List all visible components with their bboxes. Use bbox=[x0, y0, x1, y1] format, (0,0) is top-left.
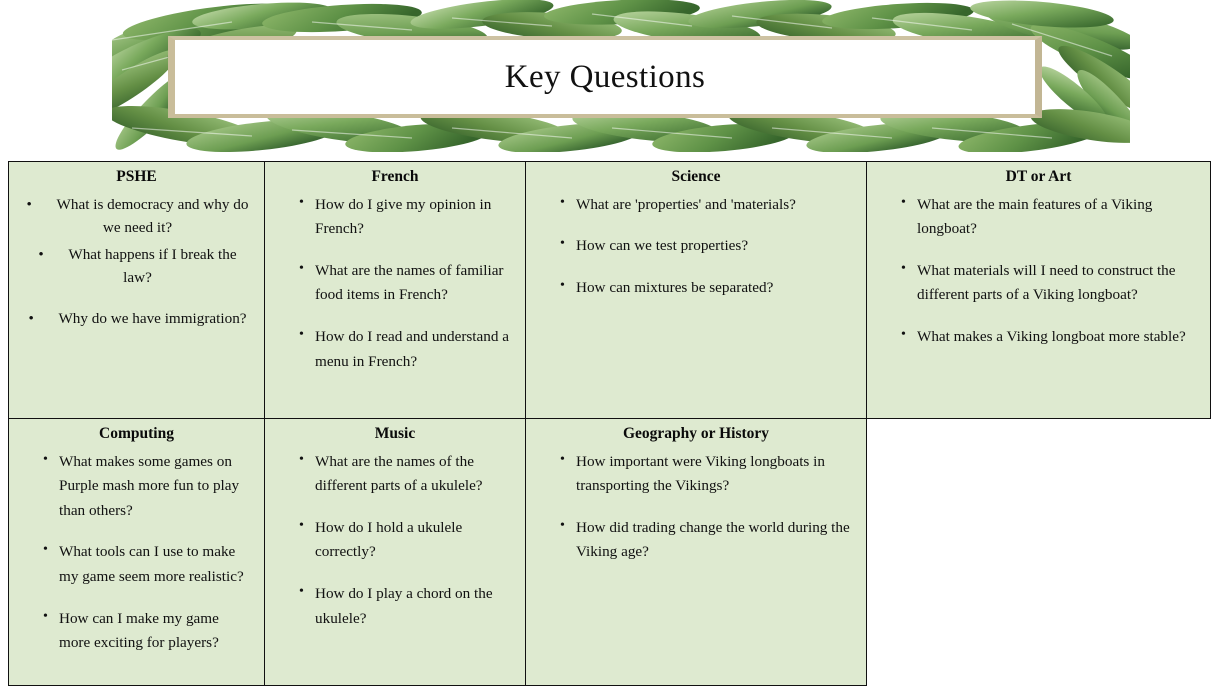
list-item: What are the names of familiar food item… bbox=[299, 259, 513, 308]
list-item: What are 'properties' and 'materials? bbox=[560, 193, 854, 218]
list-item: How important were Viking longboats in t… bbox=[560, 450, 854, 499]
question-text: How can we test properties? bbox=[576, 237, 748, 254]
question-text: What are 'properties' and 'materials? bbox=[576, 196, 796, 213]
question-text: How important were Viking longboats in t… bbox=[576, 453, 825, 495]
list-item: •Why do we have immigration? bbox=[23, 307, 252, 330]
subject-title-dt-or-art: DT or Art bbox=[875, 168, 1202, 187]
list-item: •What is democracy and why do we need it… bbox=[23, 193, 252, 239]
question-list-dt-or-art: What are the main features of a Viking l… bbox=[875, 193, 1202, 350]
question-text: How do I give my opinion in French? bbox=[315, 196, 491, 238]
question-text: What makes some games on Purple mash mor… bbox=[59, 453, 239, 519]
question-text: What materials will I need to construct … bbox=[917, 262, 1176, 304]
subject-title-music: Music bbox=[273, 425, 517, 444]
question-text: How do I play a chord on the ukulele? bbox=[315, 585, 493, 627]
question-list-science: What are 'properties' and 'materials? Ho… bbox=[534, 193, 858, 301]
question-text: Why do we have immigration? bbox=[58, 310, 246, 327]
question-list-pshe: •What is democracy and why do we need it… bbox=[17, 193, 256, 330]
list-item: What makes a Viking longboat more stable… bbox=[901, 325, 1198, 350]
table-row: Computing What makes some games on Purpl… bbox=[9, 419, 1211, 686]
subject-cell-science: Science What are 'properties' and 'mater… bbox=[526, 162, 867, 419]
page-title: Key Questions bbox=[505, 61, 705, 94]
subject-title-computing: Computing bbox=[17, 425, 256, 444]
list-item: How can I make my game more exciting for… bbox=[43, 607, 252, 656]
key-questions-table: PSHE •What is democracy and why do we ne… bbox=[8, 161, 1211, 686]
question-text: What makes a Viking longboat more stable… bbox=[917, 328, 1186, 345]
subject-cell-music: Music What are the names of the differen… bbox=[265, 419, 526, 686]
subject-title-geography-or-history: Geography or History bbox=[534, 425, 858, 444]
list-item: How do I give my opinion in French? bbox=[299, 193, 513, 242]
question-text: How can I make my game more exciting for… bbox=[59, 610, 219, 652]
question-list-music: What are the names of the different part… bbox=[273, 450, 517, 632]
subject-cell-french: French How do I give my opinion in Frenc… bbox=[265, 162, 526, 419]
question-text: How can mixtures be separated? bbox=[576, 279, 773, 296]
list-item: How do I play a chord on the ukulele? bbox=[299, 582, 513, 631]
table-row: PSHE •What is democracy and why do we ne… bbox=[9, 162, 1211, 419]
list-item: How can we test properties? bbox=[560, 234, 854, 259]
question-text: What tools can I use to make my game see… bbox=[59, 543, 244, 585]
list-item: How do I hold a ukulele correctly? bbox=[299, 516, 513, 565]
list-item: What tools can I use to make my game see… bbox=[43, 540, 252, 589]
subject-title-pshe: PSHE bbox=[17, 168, 256, 187]
subject-title-science: Science bbox=[534, 168, 858, 187]
question-text: What happens if I break the law? bbox=[68, 246, 236, 286]
question-text: How do I hold a ukulele correctly? bbox=[315, 519, 462, 561]
banner-title-frame: Key Questions bbox=[168, 36, 1042, 118]
subject-cell-geography-or-history: Geography or History How important were … bbox=[526, 419, 867, 686]
question-text: What are the main features of a Viking l… bbox=[917, 196, 1152, 238]
question-text: What are the names of familiar food item… bbox=[315, 262, 504, 304]
question-text: How do I read and understand a menu in F… bbox=[315, 328, 509, 370]
question-text: What is democracy and why do we need it? bbox=[57, 196, 249, 236]
page-banner: Key Questions bbox=[0, 0, 1213, 155]
list-item: How do I read and understand a menu in F… bbox=[299, 325, 513, 374]
list-item: What are the names of the different part… bbox=[299, 450, 513, 499]
subject-cell-pshe: PSHE •What is democracy and why do we ne… bbox=[9, 162, 265, 419]
list-item: What makes some games on Purple mash mor… bbox=[43, 450, 252, 524]
list-item: What are the main features of a Viking l… bbox=[901, 193, 1198, 242]
bullet-icon: • bbox=[38, 243, 68, 266]
subject-cell-computing: Computing What makes some games on Purpl… bbox=[9, 419, 265, 686]
list-item: •What happens if I break the law? bbox=[23, 243, 252, 289]
question-list-computing: What makes some games on Purple mash mor… bbox=[17, 450, 256, 656]
question-text: How did trading change the world during … bbox=[576, 519, 850, 561]
bullet-icon: • bbox=[27, 193, 57, 216]
bullet-icon: • bbox=[28, 307, 58, 330]
list-item: How can mixtures be separated? bbox=[560, 276, 854, 301]
list-item: How did trading change the world during … bbox=[560, 516, 854, 565]
subject-title-french: French bbox=[273, 168, 517, 187]
subject-cell-dt-or-art: DT or Art What are the main features of … bbox=[867, 162, 1211, 419]
question-list-geography-or-history: How important were Viking longboats in t… bbox=[534, 450, 858, 566]
question-text: What are the names of the different part… bbox=[315, 453, 483, 495]
list-item: What materials will I need to construct … bbox=[901, 259, 1198, 308]
question-list-french: How do I give my opinion in French? What… bbox=[273, 193, 517, 375]
